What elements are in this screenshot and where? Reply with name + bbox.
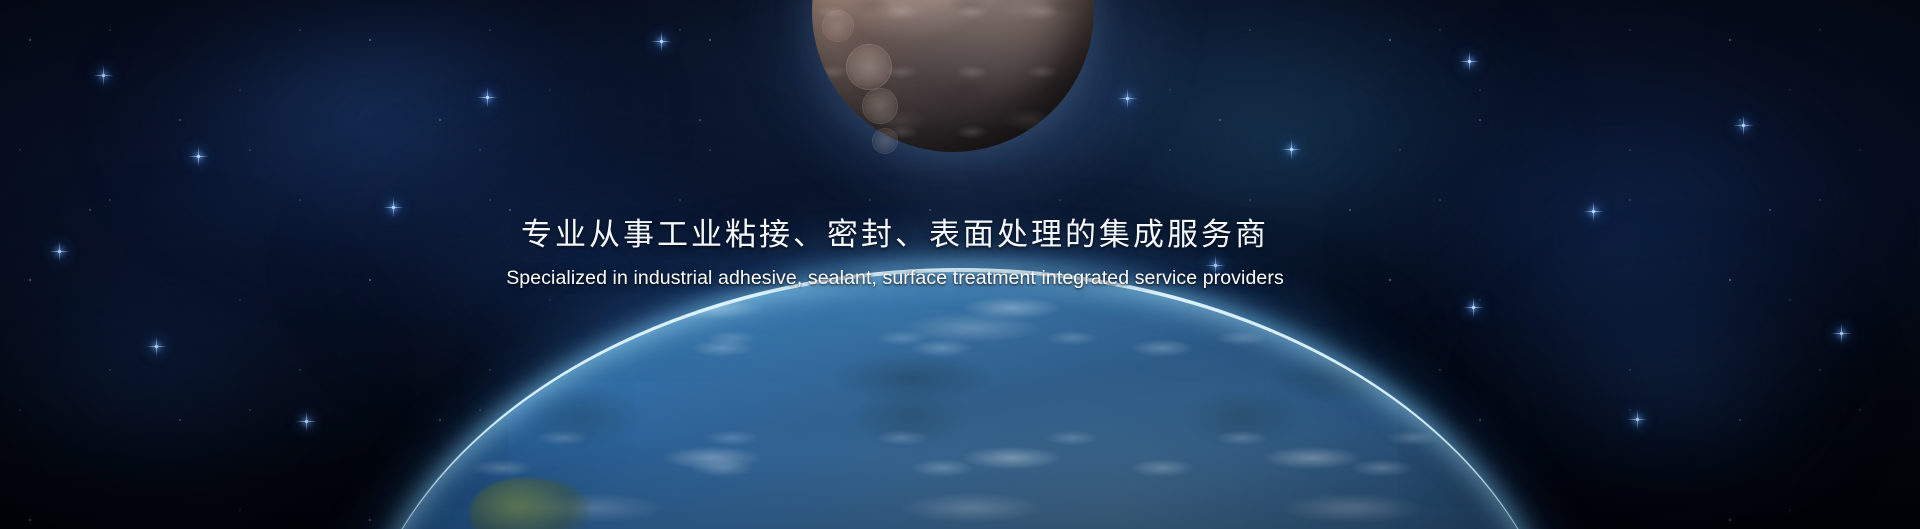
bright-star-icon bbox=[155, 345, 158, 348]
bright-star-icon bbox=[1742, 124, 1745, 127]
bright-star-icon bbox=[58, 250, 61, 253]
lens-flare-bokeh bbox=[846, 44, 892, 90]
bright-star-icon bbox=[1472, 306, 1475, 309]
lens-flare-bokeh bbox=[872, 128, 898, 154]
bright-star-icon bbox=[1290, 148, 1293, 151]
bright-star-icon bbox=[1468, 60, 1471, 63]
lens-flare-bokeh bbox=[862, 88, 898, 124]
bright-star-icon bbox=[1840, 332, 1843, 335]
lens-flare-bokeh bbox=[822, 10, 854, 42]
hero-banner: 专业从事工业粘接、密封、表面处理的集成服务商 Specialized in in… bbox=[0, 0, 1920, 529]
bright-star-icon bbox=[305, 420, 308, 423]
bright-star-icon bbox=[1592, 210, 1595, 213]
bright-star-icon bbox=[102, 74, 105, 77]
bright-star-icon bbox=[660, 40, 663, 43]
bright-star-icon bbox=[486, 96, 489, 99]
bright-star-icon bbox=[1636, 418, 1639, 421]
bright-star-icon bbox=[392, 206, 395, 209]
bright-star-icon bbox=[197, 155, 200, 158]
